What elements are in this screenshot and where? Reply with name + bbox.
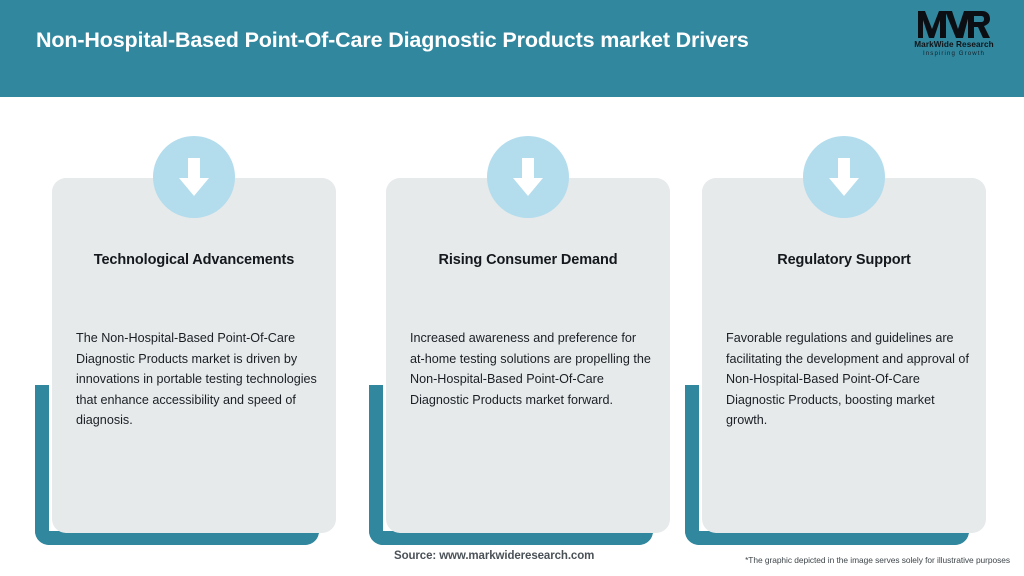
arrow-down-icon [487, 136, 569, 218]
card-heading: Technological Advancements [64, 250, 324, 270]
arrow-down-icon [803, 136, 885, 218]
driver-card-group: Technological Advancements The Non-Hospi… [18, 0, 336, 576]
footer-disclaimer: *The graphic depicted in the image serve… [745, 555, 1010, 565]
arrow-down-icon [153, 136, 235, 218]
card-body: Increased awareness and preference for a… [410, 328, 654, 410]
driver-card[interactable]: Rising Consumer Demand Increased awarene… [386, 178, 670, 533]
driver-card[interactable]: Regulatory Support Favorable regulations… [702, 178, 986, 533]
driver-card-group: Regulatory Support Favorable regulations… [668, 0, 986, 576]
footer-source: Source: www.markwideresearch.com [394, 550, 594, 562]
card-body: The Non-Hospital-Based Point-Of-Care Dia… [76, 328, 320, 431]
driver-card-group: Rising Consumer Demand Increased awarene… [352, 0, 670, 576]
card-heading: Rising Consumer Demand [398, 250, 658, 270]
card-body: Favorable regulations and guidelines are… [726, 328, 970, 431]
card-heading: Regulatory Support [714, 250, 974, 270]
driver-card[interactable]: Technological Advancements The Non-Hospi… [52, 178, 336, 533]
